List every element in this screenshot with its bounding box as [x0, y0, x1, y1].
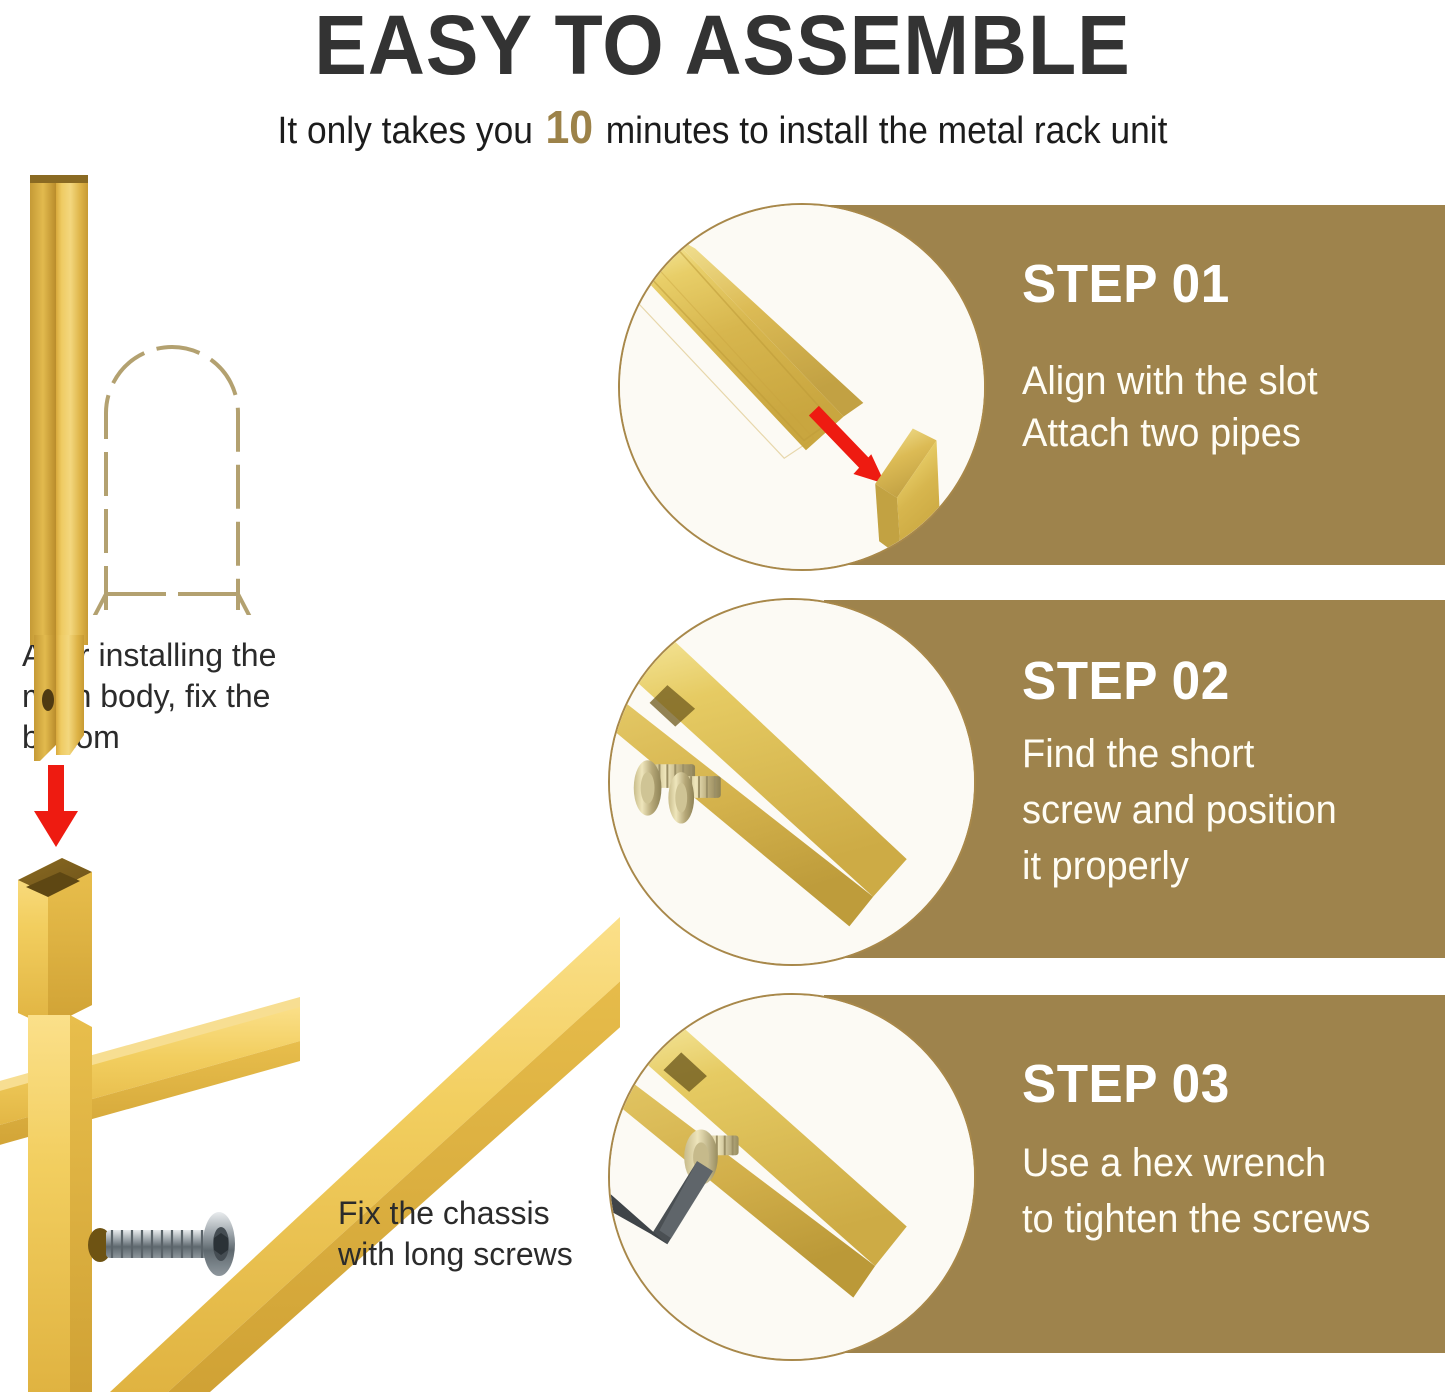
page-subtitle: It only takes you 10 minutes to install …	[51, 103, 1395, 155]
header: EASY TO ASSEMBLE It only takes you 10 mi…	[0, 0, 1445, 175]
step-2-line-3: it properly	[1022, 840, 1189, 892]
subtitle-text-before: It only takes you	[278, 110, 543, 152]
subtitle-accent-number: 10	[543, 101, 596, 153]
subtitle-text-after: minutes to install the metal rack unit	[596, 110, 1168, 152]
left-illustration: After installing the main body, fix the …	[0, 175, 620, 1392]
step-1-line-1: Align with the slot	[1022, 355, 1318, 407]
vertical-post-upper	[30, 175, 88, 645]
step-3-line-2: to tighten the screws	[1022, 1193, 1371, 1245]
chassis-center-column	[28, 1015, 92, 1392]
step-2-photo	[610, 600, 974, 964]
socket-block	[18, 858, 92, 1027]
step-1-title: STEP 01	[1022, 253, 1230, 315]
step-1-photo	[620, 205, 984, 569]
step-2-title: STEP 02	[1022, 650, 1230, 712]
step-1-line-2: Attach two pipes	[1022, 407, 1301, 459]
step-3-line-1: Use a hex wrench	[1022, 1137, 1326, 1189]
step-1-photo-bubble	[618, 203, 986, 571]
long-screw	[88, 1212, 235, 1276]
page-title: EASY TO ASSEMBLE	[43, 0, 1401, 92]
chassis-caption: Fix the chassis with long screws	[338, 1193, 613, 1275]
assembly-direction-arrow	[34, 765, 78, 847]
chassis-leg-diagonal	[110, 917, 620, 1392]
step-2-line-1: Find the short	[1022, 728, 1254, 780]
step-2-photo-bubble	[608, 598, 976, 966]
post-screw-hole	[42, 689, 54, 711]
step-3-photo-bubble	[608, 993, 976, 1361]
infographic-page: EASY TO ASSEMBLE It only takes you 10 mi…	[0, 0, 1445, 1392]
step-2-line-2: screw and position	[1022, 784, 1337, 836]
step-3-photo	[610, 995, 974, 1359]
step-3-title: STEP 03	[1022, 1053, 1230, 1115]
post-insert-tip	[34, 635, 84, 761]
